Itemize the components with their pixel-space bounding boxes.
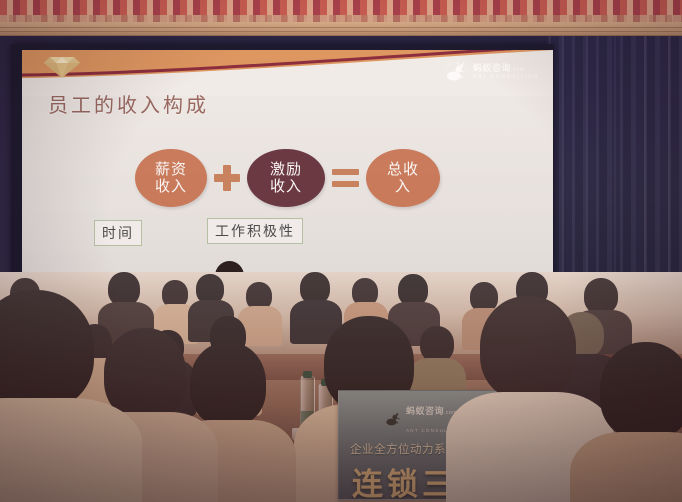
incentive-line1: 激励 <box>270 160 302 178</box>
incentive-income-bubble: 激励 收入 <box>247 149 325 207</box>
total-line1: 总收 <box>387 160 419 178</box>
work-motivation-label-chip: 工作积极性 <box>207 218 303 244</box>
audience-area: 蚂蚁咨询.com ANT CONSULTING 企业全方位动力系统方案班 连锁三… <box>0 272 682 502</box>
income-formula: 薪资 收入 激励 收入 总收 入 <box>22 142 553 214</box>
slide-title: 员工的收入构成 <box>48 89 209 118</box>
ant-icon <box>443 60 469 84</box>
logo-name-cn: 蚂蚁咨询 <box>473 63 511 73</box>
plus-operator-icon <box>214 165 240 191</box>
diamond-gem-icon <box>40 55 84 79</box>
logo-name-en: ANT CONSULTING <box>473 75 539 80</box>
equals-operator-icon <box>332 169 359 187</box>
time-label-chip: 时间 <box>94 220 142 246</box>
curtain-valance <box>0 0 682 24</box>
seminar-photo: 蚂蚁咨询.com ANT CONSULTING 员工的收入构成 薪资 收入 激励… <box>0 0 682 502</box>
ant-consulting-logo: 蚂蚁咨询.com ANT CONSULTING <box>443 60 539 84</box>
sign-brand-cn: 蚂蚁咨询 <box>406 406 444 416</box>
salary-income-bubble: 薪资 收入 <box>135 149 207 207</box>
incentive-line2: 收入 <box>270 177 302 195</box>
total-line2: 入 <box>395 177 411 195</box>
salary-line2: 收入 <box>155 177 187 195</box>
total-income-bubble: 总收 入 <box>366 149 440 207</box>
salary-line1: 薪资 <box>155 160 187 178</box>
projection-screen: 蚂蚁咨询.com ANT CONSULTING 员工的收入构成 薪资 收入 激励… <box>22 50 553 296</box>
logo-dotcom: .com <box>511 67 525 73</box>
